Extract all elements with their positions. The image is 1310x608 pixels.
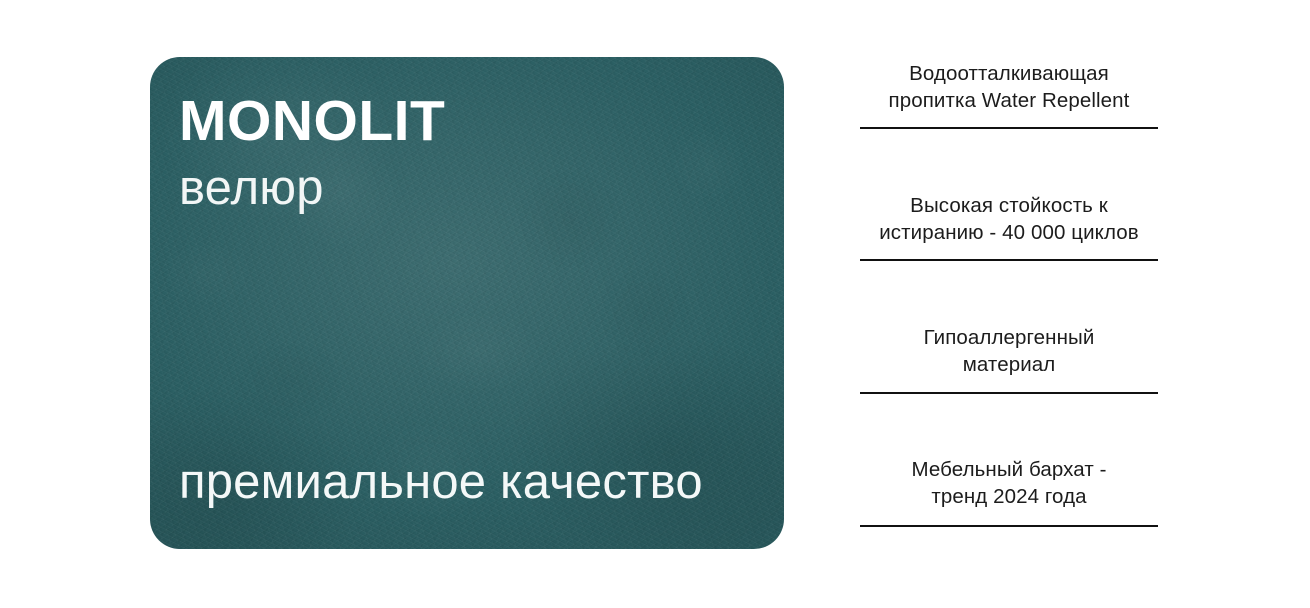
feature-line-1: Водоотталкивающая [909,62,1109,85]
fabric-spec-card: MONOLIT велюр премиальное качество Водоо… [0,0,1310,608]
feature-line-1: Высокая стойкость к [910,194,1108,217]
brand-subtitle: велюр [179,164,445,213]
swatch-tagline: премиальное качество [179,458,703,507]
feature-line-2: пропитка Water Repellent [889,89,1130,112]
feature-text: Мебельный бархат - тренд 2024 года [860,394,1158,510]
feature-line-2: тренд 2024 года [931,485,1086,508]
feature-item-abrasion-resistance: Высокая стойкость к истиранию - 40 000 ц… [860,129,1158,261]
feature-line-1: Гипоаллергенный [924,326,1095,349]
feature-text: Гипоаллергенный материал [860,261,1158,378]
feature-text: Высокая стойкость к истиранию - 40 000 ц… [860,129,1158,246]
brand-name: MONOLIT [179,93,445,150]
feature-item-trend-2024: Мебельный бархат - тренд 2024 года [860,394,1158,527]
fabric-swatch: MONOLIT велюр премиальное качество [150,57,784,549]
brand-block: MONOLIT велюр [179,93,445,213]
feature-item-hypoallergenic: Гипоаллергенный материал [860,261,1158,394]
feature-text: Водоотталкивающая пропитка Water Repelle… [860,50,1158,114]
feature-line-2: истиранию - 40 000 циклов [879,221,1138,244]
feature-list: Водоотталкивающая пропитка Water Repelle… [860,50,1158,527]
feature-line-2: материал [963,353,1056,376]
feature-divider [860,525,1158,527]
feature-line-1: Мебельный бархат - [911,458,1106,481]
feature-item-water-repellent: Водоотталкивающая пропитка Water Repelle… [860,50,1158,129]
